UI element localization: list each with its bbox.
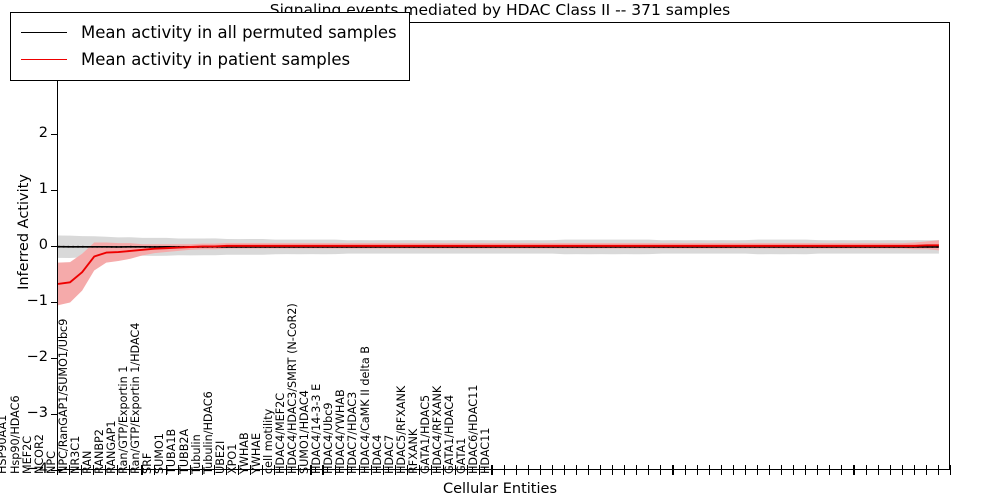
legend-item: Mean activity in patient samples — [21, 46, 397, 73]
chart-legend: Mean activity in all permuted samples Me… — [10, 12, 410, 81]
legend-item-label: Mean activity in patient samples — [81, 50, 350, 69]
legend-item-label: Mean activity in all permuted samples — [81, 23, 397, 42]
x-axis-label: Cellular Entities — [0, 481, 1000, 497]
legend-line-swatch — [21, 59, 67, 60]
figure: Signaling events mediated by HDAC Class … — [0, 0, 1000, 500]
legend-line-swatch — [21, 32, 67, 33]
x-axis-tick-label: HDAC11 — [480, 428, 954, 474]
legend-item: Mean activity in all permuted samples — [21, 19, 397, 46]
